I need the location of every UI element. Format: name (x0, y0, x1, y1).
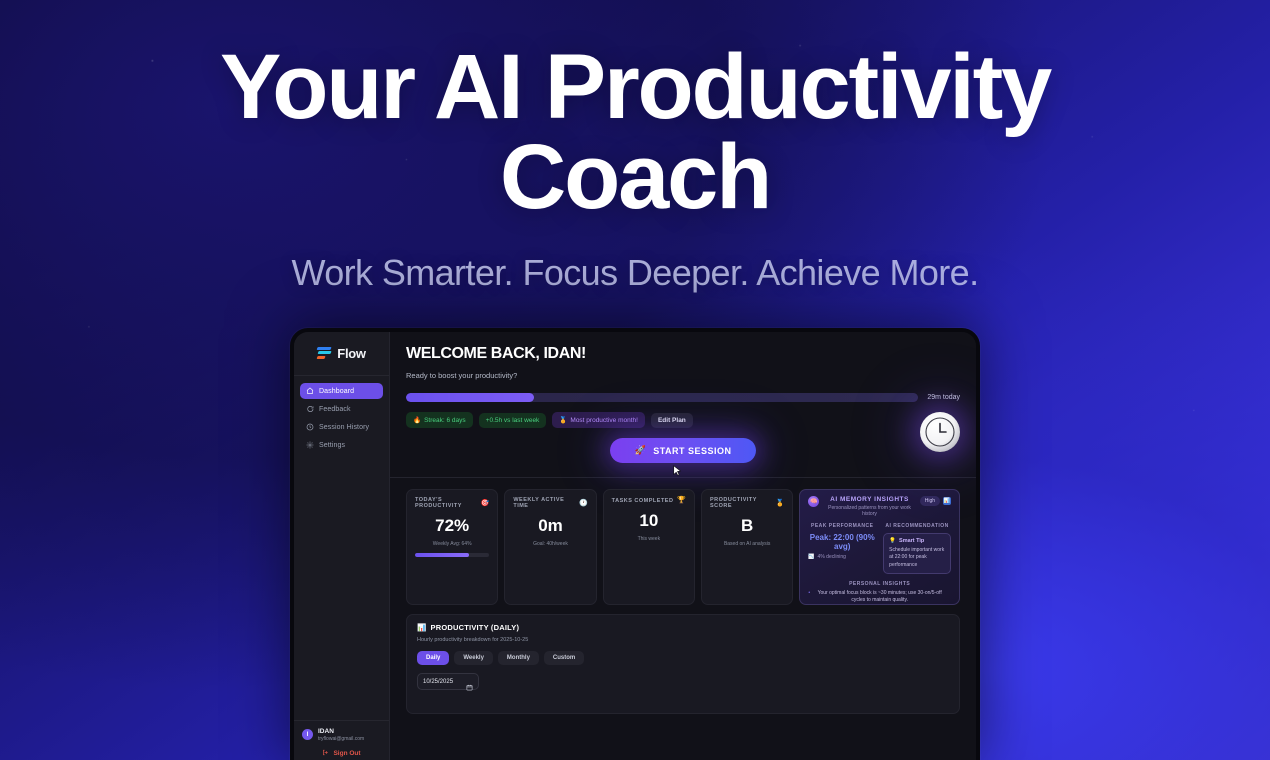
week-delta-badge: +0.5h vs last week (479, 413, 547, 428)
sidebar-item-session-history[interactable]: Session History (300, 419, 383, 435)
lightbulb-icon: 💡 (889, 538, 896, 544)
start-session-wrap: 🚀 START SESSION (406, 438, 960, 463)
bar-chart-icon: 📊 (417, 623, 427, 632)
medal-icon: 🏅 (776, 500, 785, 507)
date-input[interactable]: 10/25/2025 (417, 673, 479, 690)
calendar-icon[interactable] (466, 678, 473, 685)
ai-memory-insights-panel[interactable]: 🧠 AI MEMORY INSIGHTS Personalized patter… (799, 489, 960, 605)
most-productive-badge: 🏅 Most productive month! (552, 412, 645, 428)
ai-header-text: AI MEMORY INSIGHTS Personalized patterns… (824, 496, 914, 517)
home-icon (306, 387, 314, 395)
daily-progress-row: 29m today (406, 393, 960, 402)
progress-label: 29m today (927, 394, 960, 401)
card-title: PRODUCTIVITY SCORE (710, 497, 776, 509)
card-title: TODAY'S PRODUCTIVITY (415, 497, 481, 509)
edit-plan-label: Edit Plan (658, 417, 686, 424)
streak-badge: 🔥 Streak: 6 days (406, 412, 473, 428)
hero-title-line-2: Coach (0, 132, 1270, 222)
card-progress-bar (415, 553, 489, 557)
sidebar-nav: Dashboard Feedback Session History (294, 376, 389, 453)
stat-card-todays-productivity[interactable]: TODAY'S PRODUCTIVITY 🎯 72% Weekly Avg: 6… (406, 489, 498, 605)
smart-tip-box: 💡 Smart Tip Schedule important work at 2… (883, 533, 951, 574)
stat-card-row: TODAY'S PRODUCTIVITY 🎯 72% Weekly Avg: 6… (406, 489, 960, 605)
sidebar-item-settings[interactable]: Settings (300, 437, 383, 453)
welcome-subtitle: Ready to boost your productivity? (406, 371, 960, 380)
sidebar-item-label: Session History (319, 424, 369, 431)
edit-plan-button[interactable]: Edit Plan (651, 413, 693, 428)
productivity-panel-title-text: PRODUCTIVITY (DAILY) (431, 623, 520, 632)
card-subtext: Based on AI analysis (710, 541, 784, 547)
card-title: WEEKLY ACTIVE TIME (513, 497, 579, 509)
page-title: Your AI Productivity Coach (0, 42, 1270, 222)
clock-icon: 🕐 (579, 500, 588, 507)
peak-performance-title: PEAK PERFORMANCE (808, 523, 876, 529)
user-name: IDAN (318, 728, 364, 736)
tab-monthly[interactable]: Monthly (498, 651, 539, 665)
start-session-button[interactable]: 🚀 START SESSION (610, 438, 755, 463)
progress-bar-fill (406, 393, 534, 402)
sign-out-icon (322, 749, 329, 758)
personal-insights-body: • Your optimal focus block is ~30 minute… (808, 590, 951, 605)
week-delta-label: +0.5h vs last week (486, 417, 540, 424)
trend-down-icon: 📉 (808, 554, 814, 560)
card-value: 0m (513, 516, 587, 536)
sign-out-button[interactable]: Sign Out (302, 749, 381, 758)
user-row[interactable]: I IDAN tryflowai@gmail.com (302, 728, 381, 742)
app-window-mockup: Flow Dashboard Feedback (290, 328, 980, 760)
ai-panel-subtitle: Personalized patterns from your work his… (824, 505, 914, 517)
sidebar-item-dashboard[interactable]: Dashboard (300, 383, 383, 399)
sign-out-label: Sign Out (333, 750, 360, 757)
tab-custom[interactable]: Custom (544, 651, 584, 665)
card-subtext: This week (612, 536, 686, 542)
section-divider (390, 477, 976, 478)
sidebar-item-label: Feedback (319, 406, 351, 413)
smart-tip-title: Smart Tip (899, 538, 924, 544)
card-value: 10 (612, 511, 686, 531)
card-header: WEEKLY ACTIVE TIME 🕐 (513, 497, 587, 509)
dashboard-app: Flow Dashboard Feedback (294, 332, 976, 760)
smart-tip-header: 💡 Smart Tip (889, 538, 945, 544)
peak-performance-column: PEAK PERFORMANCE Peak: 22:00 (90% avg) 📉… (808, 523, 876, 574)
start-session-label: START SESSION (653, 446, 731, 456)
smart-tip-body: Schedule important work at 22:00 for pea… (889, 547, 945, 569)
card-value: B (710, 516, 784, 536)
productivity-panel-title: 📊 PRODUCTIVITY (DAILY) (417, 623, 949, 632)
medal-icon: 🏅 (559, 416, 567, 424)
peak-trend: 📉 4% declining (808, 554, 876, 560)
ai-panel-title: AI MEMORY INSIGHTS (824, 496, 914, 503)
ai-recommendation-column: AI RECOMMENDATION 💡 Smart Tip Schedule i… (883, 523, 951, 574)
card-header: TASKS COMPLETED 🏆 (612, 497, 686, 504)
main-content: WELCOME BACK, IDAN! Ready to boost your … (390, 332, 976, 760)
sidebar-spacer (294, 453, 389, 720)
clock-history-icon (306, 423, 314, 431)
card-value: 72% (415, 516, 489, 536)
progress-bar[interactable] (406, 393, 918, 402)
flow-logo-icon (317, 346, 332, 361)
sidebar-item-label: Settings (319, 442, 345, 449)
mouse-cursor (673, 464, 682, 476)
date-input-value: 10/25/2025 (423, 679, 453, 685)
card-header: TODAY'S PRODUCTIVITY 🎯 (415, 497, 489, 509)
brand-logo[interactable]: Flow (294, 332, 389, 376)
gear-icon (306, 441, 314, 449)
confidence-badge: High (920, 496, 940, 506)
ai-recommendation-title: AI RECOMMENDATION (883, 523, 951, 529)
range-tabs: Daily Weekly Monthly Custom (417, 651, 949, 665)
tab-weekly[interactable]: Weekly (454, 651, 493, 665)
card-subtext: Goal: 40h/week (513, 541, 587, 547)
sidebar: Flow Dashboard Feedback (294, 332, 390, 760)
productivity-panel: 📊 PRODUCTIVITY (DAILY) Hourly productivi… (406, 614, 960, 714)
most-productive-label: Most productive month! (570, 417, 638, 424)
peak-trend-label: 4% declining (818, 554, 846, 560)
personal-insights-title: PERSONAL INSIGHTS (808, 581, 951, 587)
card-subtext: Weekly Avg: 64% (415, 541, 489, 547)
hero-title-line-1: Your AI Productivity (220, 36, 1050, 138)
user-info: IDAN tryflowai@gmail.com (318, 728, 364, 742)
badge-row: 🔥 Streak: 6 days +0.5h vs last week 🏅 Mo… (406, 412, 960, 428)
chat-bubble-icon (306, 405, 314, 413)
hero-section: Your AI Productivity Coach Work Smarter.… (0, 0, 1270, 294)
landing-page: Your AI Productivity Coach Work Smarter.… (0, 0, 1270, 760)
bullet-icon: • (808, 590, 810, 598)
fire-icon: 🔥 (413, 416, 421, 424)
user-email: tryflowai@gmail.com (318, 736, 364, 742)
sidebar-item-feedback[interactable]: Feedback (300, 401, 383, 417)
trophy-icon: 🏆 (677, 497, 686, 504)
tab-daily[interactable]: Daily (417, 651, 449, 665)
ai-panel-header: 🧠 AI MEMORY INSIGHTS Personalized patter… (808, 496, 951, 517)
rocket-icon: 🚀 (634, 445, 646, 456)
brain-icon: 🧠 (808, 496, 819, 507)
welcome-title: WELCOME BACK, IDAN! (406, 345, 960, 363)
stat-card-productivity-score[interactable]: PRODUCTIVITY SCORE 🏅 B Based on AI analy… (701, 489, 793, 605)
stat-card-weekly-active-time[interactable]: WEEKLY ACTIVE TIME 🕐 0m Goal: 40h/week (504, 489, 596, 605)
streak-badge-label: Streak: 6 days (424, 417, 466, 424)
avatar: I (302, 729, 313, 740)
peak-performance-value: Peak: 22:00 (90% avg) (808, 533, 876, 551)
brand-name: Flow (337, 346, 365, 361)
ai-header-right: High 📊 (920, 496, 951, 506)
personal-insights-text: Your optimal focus block is ~30 minutes;… (818, 590, 942, 604)
ai-panel-columns: PEAK PERFORMANCE Peak: 22:00 (90% avg) 📉… (808, 523, 951, 574)
productivity-panel-subtitle: Hourly productivity breakdown for 2025-1… (417, 637, 949, 643)
sidebar-user-section: I IDAN tryflowai@gmail.com Sign Out (294, 720, 389, 760)
sidebar-item-label: Dashboard (319, 388, 354, 395)
chart-icon[interactable]: 📊 (943, 497, 951, 505)
card-header: PRODUCTIVITY SCORE 🏅 (710, 497, 784, 509)
stat-card-tasks-completed[interactable]: TASKS COMPLETED 🏆 10 This week (603, 489, 695, 605)
card-title: TASKS COMPLETED (612, 498, 674, 504)
target-icon: 🎯 (481, 500, 490, 507)
hero-subtitle: Work Smarter. Focus Deeper. Achieve More… (0, 252, 1270, 294)
